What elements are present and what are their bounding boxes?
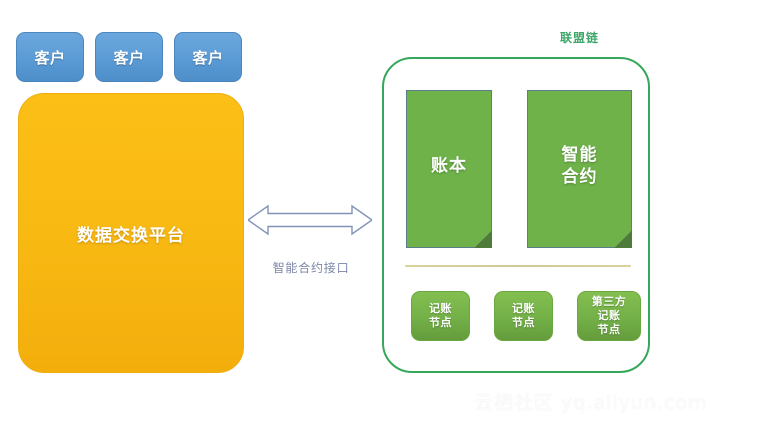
node-label: 第三方记账节点 [592, 295, 627, 336]
smart-contract-label: 智能合约 [562, 145, 598, 193]
chain-section-divider [405, 265, 631, 267]
accounting-node-box-1: 记账节点 [411, 291, 470, 341]
double-headed-arrow-icon [248, 200, 372, 240]
client-box-label: 客户 [192, 47, 223, 68]
platform-label: 数据交换平台 [77, 221, 185, 246]
smart-contract-interface-label: 智能合约接口 [238, 259, 384, 276]
node-label: 记账节点 [429, 302, 452, 330]
ledger-document-card: 账本 [406, 90, 492, 248]
node-label: 记账节点 [512, 302, 535, 330]
smart-contract-document-card: 智能合约 [527, 90, 632, 248]
watermark: 云栖社区 yq.aliyun.com [474, 388, 708, 415]
client-box-3: 客户 [174, 32, 242, 82]
ledger-label: 账本 [431, 156, 467, 182]
client-box-label: 客户 [113, 47, 144, 68]
diagram-canvas: 客户 客户 客户 数据交换平台 智能合约接口 联盟链 账本 智能合约 记账节点 … [0, 0, 758, 425]
data-exchange-platform-box: 数据交换平台 [18, 93, 244, 373]
client-box-1: 客户 [16, 32, 84, 82]
third-party-accounting-node-box: 第三方记账节点 [577, 291, 641, 341]
client-box-label: 客户 [34, 47, 65, 68]
consortium-chain-label: 联盟链 [560, 29, 599, 46]
accounting-node-box-2: 记账节点 [494, 291, 553, 341]
client-box-2: 客户 [95, 32, 163, 82]
